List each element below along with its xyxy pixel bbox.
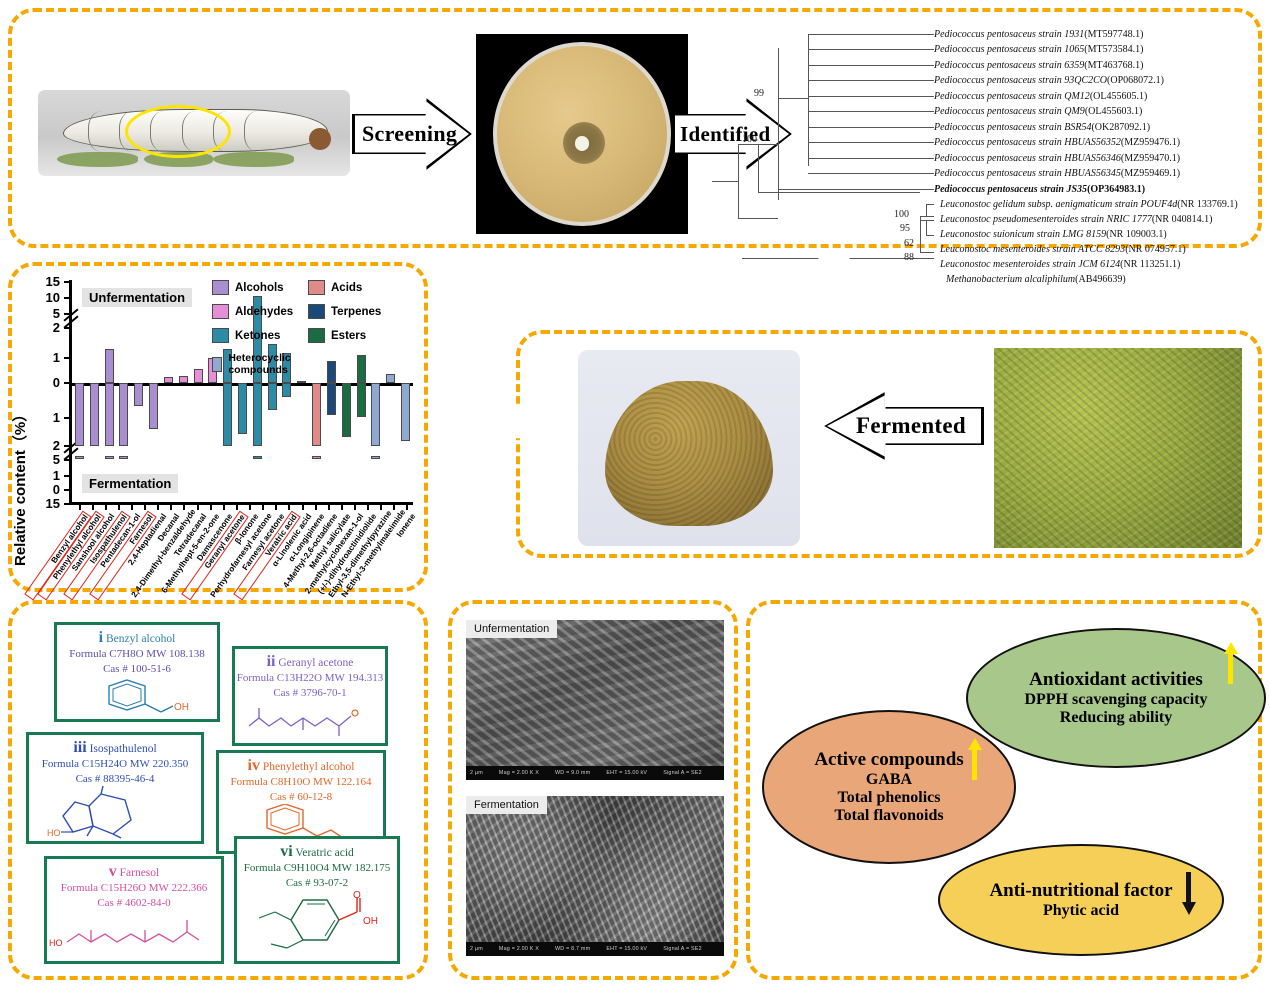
sem-infobar: 2 µm Mag = 2.00 K X WD = 8.7 mm EHT = 15… [466,942,724,956]
x-axis-tick [341,503,343,510]
legend-swatch [308,304,325,319]
bootstrap-value: 88 [904,252,914,263]
y-axis-tick [64,313,70,315]
legend-label: Acids [331,282,362,294]
veratric-acid-structure: O OH [237,890,397,962]
x-axis-tick [170,503,172,510]
tree-taxon-row: Leuconostoc gelidum subsp. aenigmaticum … [940,197,1238,212]
bar-fermentation [149,383,158,429]
taxon-name: Leuconostoc gelidum subsp. aenigmaticum … [940,199,1177,210]
panel-results-summary: Antioxidant activities DPPH scavenging c… [746,600,1262,980]
bar-unfermentation [194,369,203,383]
bar-unfermentation [105,349,114,383]
fermented-label: Fermented [856,413,966,439]
y-axis-tick [64,489,70,491]
bar-fermentation [75,383,84,446]
isospathulenol-structure: HO [29,786,201,842]
accession-number: (OK287092.1) [1091,122,1150,133]
y-axis-tick-label: 15 [20,275,60,288]
bar-fermentation-extended [253,456,262,459]
legend-swatch [212,328,229,343]
tree-taxon-row: Pediococcus pentosaceus strain 93QC2CO (… [934,73,1164,88]
compound-numeral: iii [73,739,86,756]
svg-text:HO: HO [47,828,61,838]
y-axis-tick-label: 15 [20,497,60,510]
mulberry-leaf-powder-photo [994,348,1242,548]
legend-swatch [308,328,325,343]
legend-item: Terpenes [308,304,381,319]
taxon-name: Leuconostoc mesenteroides strain JCM 612… [940,259,1120,270]
sem-wd: WD = 9.0 mm [555,770,590,776]
panel-volatile-compounds-chart: Relative content（%） Unfermentation Ferme… [8,262,428,592]
taxon-name: Pediococcus pentosaceus strain JS35 [934,184,1087,195]
bar-unfermentation [179,376,188,383]
x-axis [69,502,413,505]
bar-fermentation [327,383,336,415]
bootstrap-value: 100 [894,209,909,220]
bar-unfermentation [164,377,173,383]
bar-fermentation [268,383,277,410]
x-axis-tick [105,503,107,510]
compound-numeral: v [109,863,117,880]
taxon-name: Pediococcus pentosaceus strain 93QC2CO [934,75,1107,86]
tree-taxon-row: Methanobacterium alcaliphilum (AB496639) [946,272,1126,287]
farnesol-structure: HO [47,910,221,954]
accession-number: (NR 074957.1) [1125,244,1186,255]
y-axis-tick-label: 5 [20,307,60,320]
accession-number: (MZ959476.1) [1121,137,1180,148]
tree-taxon-row: Pediococcus pentosaceus strain HBUAS5635… [934,135,1180,150]
x-axis-tick [131,503,133,510]
y-axis-tick [64,417,70,419]
legend-label: Ketones [235,330,280,342]
svg-text:O: O [353,890,361,901]
x-axis-tick [302,503,304,510]
tree-taxon-row: Pediococcus pentosaceus strain QM12 (OL4… [934,89,1147,104]
compound-name: Geranyl acetone [278,657,353,669]
bar-fermentation [238,383,247,434]
x-axis-tick [183,503,185,510]
accession-number: (NR 113251.1) [1120,259,1180,270]
sem-caption-fermentation: Fermentation [466,796,547,814]
accession-number: (OP364983.1) [1087,184,1145,195]
bar-fermentation-extended [312,456,321,459]
sem-mag: Mag = 2.00 K X [499,946,539,952]
compound-card: ii Geranyl acetone Formula C13H22O MW 19… [232,646,388,746]
compound-formula: Formula C9H10O4 MW 182.175 [237,861,397,875]
bar-fermentation [134,383,143,406]
bar-fermentation [357,383,366,417]
legend-item: Esters [308,328,366,343]
screening-label: Screening [362,121,457,147]
compound-numeral: ii [267,653,276,670]
sem-eht: EHT = 15.00 kV [606,770,647,776]
antinutritional-title: Anti-nutritional factor [989,880,1172,902]
compound-name: Benzyl alcohol [106,633,175,645]
accession-number: (OP068072.1) [1107,75,1164,86]
legend-swatch [212,357,222,372]
bar-fermentation [282,383,291,397]
y-axis-tick-label: 2 [20,439,60,452]
x-axis-tick [144,503,146,510]
tree-taxon-row: Pediococcus pentosaceus strain 1931 (MT5… [934,27,1143,42]
bar-fermentation [105,383,114,446]
tree-taxon-row: Pediococcus pentosaceus strain HBUAS5634… [934,166,1180,181]
taxon-name: Methanobacterium alcaliphilum [946,274,1075,285]
y-axis-tick [64,327,70,329]
tree-taxon-row: Leuconostoc mesenteroides strain JCM 612… [940,257,1180,272]
compound-formula: Formula C13H22O MW 194.313 [235,671,385,685]
x-axis-tick [249,503,251,510]
accession-number: (NR 040814.1) [1152,214,1213,225]
oval-active-compounds: Active compounds GABA Total phenolics To… [762,710,1016,864]
x-axis-tick [288,503,290,510]
compound-name: Veratric acid [295,847,353,859]
x-axis-tick [262,503,264,510]
compound-card: vi Veratric acid Formula C9H10O4 MW 182.… [234,836,400,964]
geranyl-acetone-structure [235,700,385,740]
active-line-3: Total flavonoids [834,807,943,825]
y-axis-tick [64,475,70,477]
antioxidant-up-arrow-icon [1224,642,1238,684]
bar-unfermentation [327,361,336,383]
legend-item: Heterocyclic compounds [212,352,297,376]
accession-number: (MT597748.1) [1084,29,1143,40]
sem-signal: Signal A = SE2 [663,770,702,776]
taxon-name: Pediococcus pentosaceus strain 6359 [934,60,1084,71]
compound-numeral: i [99,629,103,646]
bar-fermentation [342,383,351,437]
taxon-name: Pediococcus pentosaceus strain QM12 [934,91,1090,102]
bar-unfermentation [297,381,306,383]
bootstrap-value: 99 [754,88,764,99]
taxon-name: Pediococcus pentosaceus strain HBUAS5634… [934,153,1121,164]
compound-numeral: vi [280,843,292,860]
accession-number: (MZ959470.1) [1121,153,1180,164]
taxon-name: Leuconostoc suionicum strain LMG 8159 [940,229,1106,240]
y-axis-tick-label: 5 [20,453,60,466]
tree-taxon-row: Pediococcus pentosaceus strain HBUAS5634… [934,151,1180,166]
sem-caption-unfermentation: Unfermentation [466,620,557,638]
anti-nutritional-down-arrow-icon [1182,872,1196,916]
unfermentation-tag: Unfermentation [82,288,192,307]
x-axis-tick [118,503,120,510]
compound-numeral: iv [248,757,260,774]
y-axis-tick-label: 2 [20,321,60,334]
legend-item: Aldehydes [212,304,293,319]
legend-label: Heterocyclic compounds [228,352,297,376]
sem-signal: Signal A = SE2 [663,946,702,952]
panel-screening-identification: Screening Identified [8,8,1262,248]
bar-unfermentation [357,355,366,383]
accession-number: (MT573584.1) [1084,44,1143,55]
tree-taxon-row: Pediococcus pentosaceus strain 6359 (MT4… [934,58,1143,73]
compound-name: Phenylethyl alcohol [263,761,355,773]
panel-powder-comparison: Fermented [516,330,1262,558]
oval-antioxidant-activities: Antioxidant activities DPPH scavenging c… [966,628,1266,768]
antinutritional-line-1: Phytic acid [1043,902,1119,920]
x-axis-tick [92,503,94,510]
x-axis-tick [223,503,225,510]
silkworm-larva-photo [38,90,350,176]
y-axis-tick-label: 0 [20,376,60,389]
legend-swatch [212,304,229,319]
active-line-1: GABA [866,771,912,789]
fermented-powder-photo [578,350,800,546]
bar-fermentation [253,383,262,446]
tree-taxon-row: Leuconostoc suionicum strain LMG 8159 (N… [940,227,1167,242]
bar-fermentation [119,383,128,446]
y-axis-tick [64,281,70,283]
fermentation-tag: Fermentation [82,474,178,493]
x-axis-tick [354,503,356,510]
svg-text:OH: OH [363,916,378,927]
x-axis-tick [367,503,369,510]
taxon-name: Pediococcus pentosaceus strain 1931 [934,29,1084,40]
compound-card: i Benzyl alcohol Formula C7H8O MW 108.13… [54,622,220,722]
y-axis-tick-label: 0 [20,483,60,496]
compound-formula: Formula C7H8O MW 108.138 [57,647,217,661]
taxon-name: Pediococcus pentosaceus strain 1065 [934,44,1084,55]
sem-eht: EHT = 15.00 kV [606,946,647,952]
tree-taxon-row: Pediococcus pentosaceus strain BSR54 (OK… [934,120,1150,135]
compound-formula: Formula C8H10O MW 122.164 [219,775,383,789]
compound-cas: Cas # 100-51-6 [57,662,217,676]
x-axis-tick [210,503,212,510]
x-axis-tick [406,503,408,510]
x-axis-tick [393,503,395,510]
accession-number: (AB496639) [1075,274,1126,285]
compound-cas: Cas # 93-07-2 [237,876,397,890]
legend-label: Alcohols [235,282,284,294]
accession-number: (OL455605.1) [1090,91,1148,102]
y-axis-tick [64,503,70,505]
accession-number: (NR 133769.1) [1177,199,1238,210]
bootstrap-value: 100 [742,134,757,145]
phylogenetic-tree: 99 100 100 95 62 88 Pediococcus pentosac… [712,26,1264,248]
sem-infobar: 2 µm Mag = 2.00 K X WD = 9.0 mm EHT = 15… [466,766,724,780]
y-axis-tick-label: 10 [20,291,60,304]
accession-number: (MT463768.1) [1084,60,1143,71]
bar-fermentation-extended [75,456,84,459]
x-axis-tick [328,503,330,510]
bar-fermentation-extended [371,456,380,459]
legend-label: Terpenes [331,306,381,318]
accession-number: (MZ959469.1) [1121,168,1180,179]
y-axis-tick [64,297,70,299]
compound-cas: Cas # 60-12-8 [219,790,383,804]
antioxidant-line-1: DPPH scavenging capacity [1024,691,1207,709]
legend-swatch [308,280,325,295]
y-axis-tick [64,382,70,384]
bar-fermentation [312,383,321,446]
bar-fermentation [90,383,99,446]
active-line-2: Total phenolics [838,789,941,807]
bootstrap-value: 62 [904,238,914,249]
taxon-name: Leuconostoc pseudomesenteroides strain N… [940,214,1152,225]
tree-taxon-row: Pediococcus pentosaceus strain 1065 (MT5… [934,42,1143,57]
legend-item: Alcohols [212,280,284,295]
bar-fermentation [401,383,410,441]
taxon-name: Pediococcus pentosaceus strain BSR54 [934,122,1091,133]
taxon-name: Pediococcus pentosaceus strain QM9 [934,106,1085,117]
active-compounds-up-arrow-icon [968,738,982,780]
y-axis-tick [64,357,70,359]
screening-arrow: Screening [352,98,472,170]
highlight-oval [125,105,231,158]
tree-taxon-row: Pediococcus pentosaceus strain JS35 (OP3… [934,182,1145,197]
x-axis-tick [315,503,317,510]
y-axis-tick-label: 1 [20,469,60,482]
panel-compound-structures: i Benzyl alcohol Formula C7H8O MW 108.13… [8,600,428,980]
sem-scale: 2 µm [470,946,483,952]
petri-dish-photo [476,34,688,234]
panel-sem-images: Unfermentation 2 µm Mag = 2.00 K X WD = … [448,600,738,980]
y-axis-tick [64,445,70,447]
sem-mag: Mag = 2.00 K X [499,770,539,776]
compound-cas: Cas # 3796-70-1 [235,686,385,700]
x-axis-tick [79,503,81,510]
legend-item: Acids [308,280,362,295]
sem-scale: 2 µm [470,770,483,776]
sem-image-fermentation: Fermentation 2 µm Mag = 2.00 K X WD = 8.… [466,796,724,956]
legend-label: Esters [331,330,366,342]
y-axis-tick-label: 1 [20,351,60,364]
tree-taxon-row: Leuconostoc mesenteroides strain ATCC 82… [940,242,1186,257]
accession-number: (OL455603.1) [1085,106,1143,117]
compound-card: v Farnesol Formula C15H26O MW 222.366 Ca… [44,856,224,964]
taxon-name: Leuconostoc mesenteroides strain ATCC 82… [940,244,1125,255]
benzyl-alcohol-structure: OH [57,676,217,720]
x-axis-tick [157,503,159,510]
legend-swatch [212,280,229,295]
x-axis-tick [197,503,199,510]
taxon-name: Pediococcus pentosaceus strain HBUAS5634… [934,168,1121,179]
bar-fermentation-extended [105,456,114,459]
compound-cas: Cas # 88395-46-4 [29,772,201,786]
bar-fermentation [223,383,232,446]
graphical-abstract: Screening Identified [0,0,1270,988]
sem-image-unfermentation: Unfermentation 2 µm Mag = 2.00 K X WD = … [466,620,724,780]
y-axis-tick-label: 1 [20,411,60,424]
compound-formula: Formula C15H26O MW 222.366 [47,881,221,895]
svg-text:HO: HO [49,938,63,948]
x-axis-tick [275,503,277,510]
sem-wd: WD = 8.7 mm [555,946,590,952]
bootstrap-value: 95 [900,223,910,234]
compound-name: Farnesol [120,867,160,879]
compound-cas: Cas # 4602-84-0 [47,896,221,910]
x-axis-tick [380,503,382,510]
x-axis-tick [236,503,238,510]
antioxidant-line-2: Reducing ability [1060,709,1172,727]
tree-taxon-row: Leuconostoc pseudomesenteroides strain N… [940,212,1212,227]
svg-text:OH: OH [174,702,189,713]
fermented-arrow: Fermented [824,392,984,460]
compound-card: iii Isospathulenol Formula C15H24O MW 22… [26,732,204,844]
compound-formula: Formula C15H24O MW 220.350 [29,757,201,771]
tree-taxon-row: Pediococcus pentosaceus strain QM9 (OL45… [934,104,1142,119]
taxon-name: Pediococcus pentosaceus strain HBUAS5635… [934,137,1121,148]
flow-arrow-down-to-powder [806,258,862,336]
antioxidant-title: Antioxidant activities [1029,669,1203,691]
active-title: Active compounds [814,749,963,771]
compound-name: Isospathulenol [90,743,157,755]
bar-fermentation-extended [119,456,128,459]
accession-number: (NR 109003.1) [1106,229,1167,240]
bar-unfermentation [386,374,395,383]
legend-item: Ketones [212,328,280,343]
y-axis-tick [64,459,70,461]
legend-label: Aldehydes [235,306,293,318]
bar-fermentation [371,383,380,446]
